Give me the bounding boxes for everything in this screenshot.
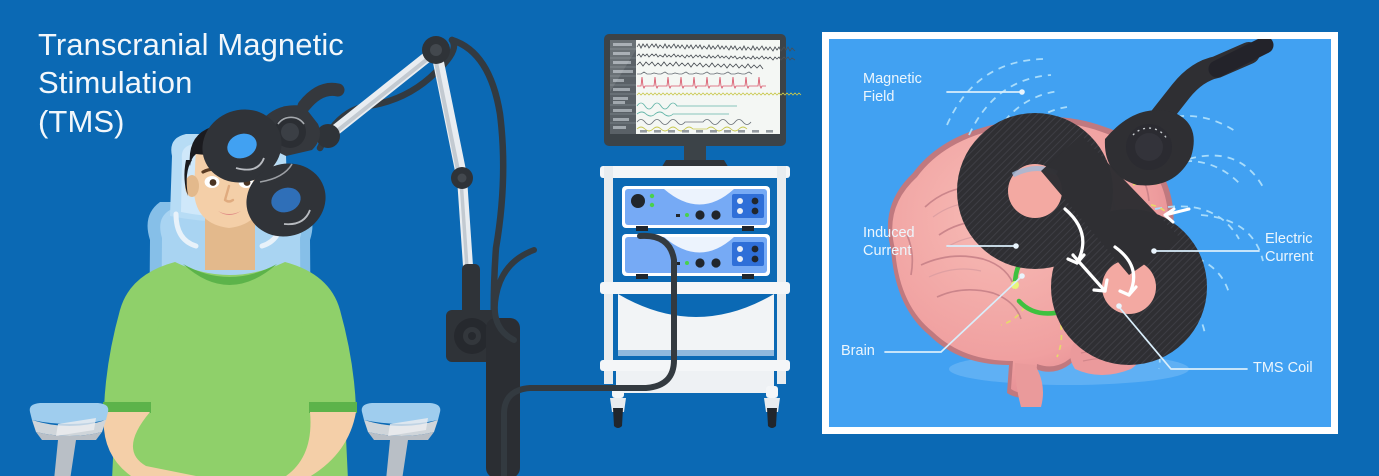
- armrest-left: [30, 403, 109, 476]
- arm-joint-mid-cap: [458, 174, 467, 183]
- coil-connector: [304, 89, 338, 106]
- polysomnography-monitor: [596, 34, 796, 174]
- unit-1-led-a: [650, 194, 654, 198]
- tms-mechanism-panel: Magnetic Field Induced Current Brain Ele…: [822, 32, 1338, 434]
- illustration-canvas: Transcranial Magnetic Stimulation (TMS): [0, 0, 1379, 476]
- tms-mechanism-panel-inner: Magnetic Field Induced Current Brain Ele…: [829, 39, 1331, 427]
- callout-brain: Brain: [841, 343, 875, 361]
- callout-electric-current: Electric Current: [1265, 231, 1313, 267]
- arm-segment-post: [461, 178, 468, 268]
- arm-joint-top-cap: [430, 44, 442, 56]
- cable-unit-to-coil: [495, 250, 534, 340]
- sleeve-cuff-left: [103, 402, 151, 413]
- ear-left: [185, 175, 199, 197]
- cable-to-wall: [504, 236, 674, 476]
- coil-inflow-arrow: [1165, 209, 1189, 222]
- cart-shelf-top: [600, 166, 790, 178]
- arm-segment-upper: [434, 50, 462, 180]
- floor-cables: [470, 200, 830, 476]
- monitor-neck: [684, 146, 706, 160]
- coil-cable-stub: [1217, 45, 1265, 69]
- callout-magnetic-field: Magnetic Field: [863, 71, 922, 107]
- callout-induced-current: Induced Current: [863, 225, 915, 261]
- callout-tms-coil: TMS Coil: [1253, 360, 1313, 378]
- coil-connector-dial-inner: [1135, 133, 1163, 161]
- arm-segment-mid: [327, 50, 436, 139]
